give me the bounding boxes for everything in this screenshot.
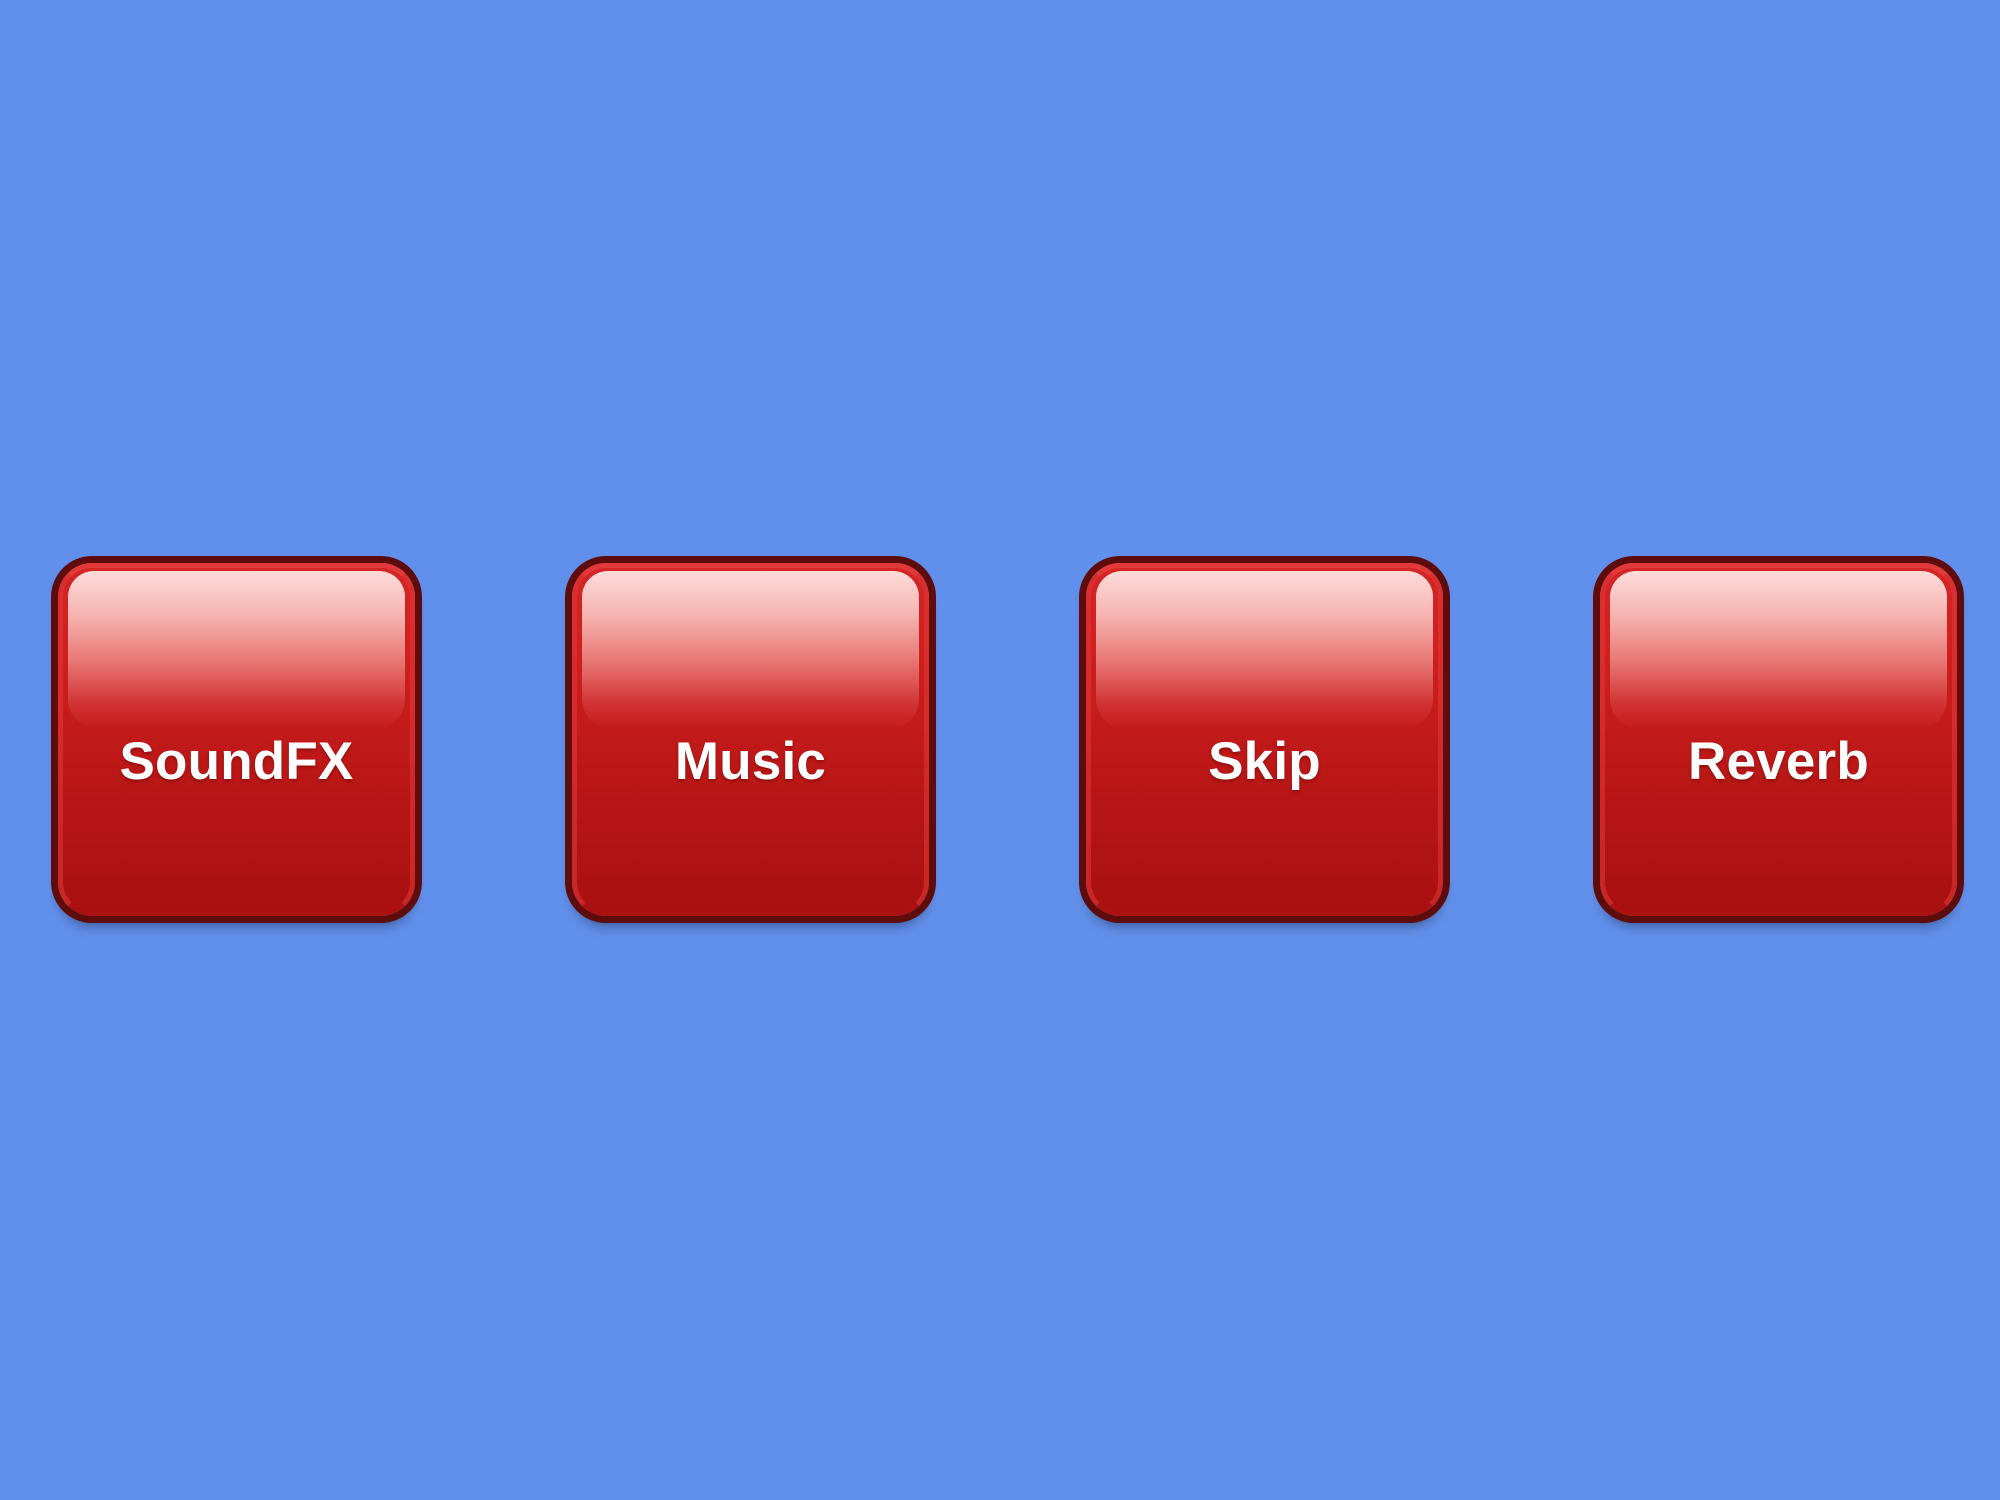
button-rim bbox=[572, 563, 929, 916]
music-button-label: Music bbox=[572, 726, 929, 798]
button-rim bbox=[1600, 563, 1957, 916]
soundfx-button[interactable]: SoundFX bbox=[58, 563, 415, 916]
button-slot-reverb: Reverb bbox=[1600, 563, 1957, 921]
button-gloss-highlight bbox=[1096, 571, 1433, 729]
reverb-button-label: Reverb bbox=[1600, 726, 1957, 798]
button-rim bbox=[1086, 563, 1443, 916]
button-gloss-highlight bbox=[68, 571, 405, 729]
soundfx-button-label: SoundFX bbox=[58, 726, 415, 798]
music-button[interactable]: Music bbox=[572, 563, 929, 916]
button-slot-skip: Skip bbox=[1086, 563, 1443, 921]
button-gloss-highlight bbox=[582, 571, 919, 729]
reverb-button[interactable]: Reverb bbox=[1600, 563, 1957, 916]
button-row: SoundFX Music Skip Reverb bbox=[0, 563, 2000, 959]
skip-button-label: Skip bbox=[1086, 726, 1443, 798]
button-slot-soundfx: SoundFX bbox=[58, 563, 415, 921]
app-screen: SoundFX Music Skip Reverb bbox=[0, 0, 2000, 1500]
skip-button[interactable]: Skip bbox=[1086, 563, 1443, 916]
button-rim bbox=[58, 563, 415, 916]
button-slot-music: Music bbox=[572, 563, 929, 921]
button-gloss-highlight bbox=[1610, 571, 1947, 729]
